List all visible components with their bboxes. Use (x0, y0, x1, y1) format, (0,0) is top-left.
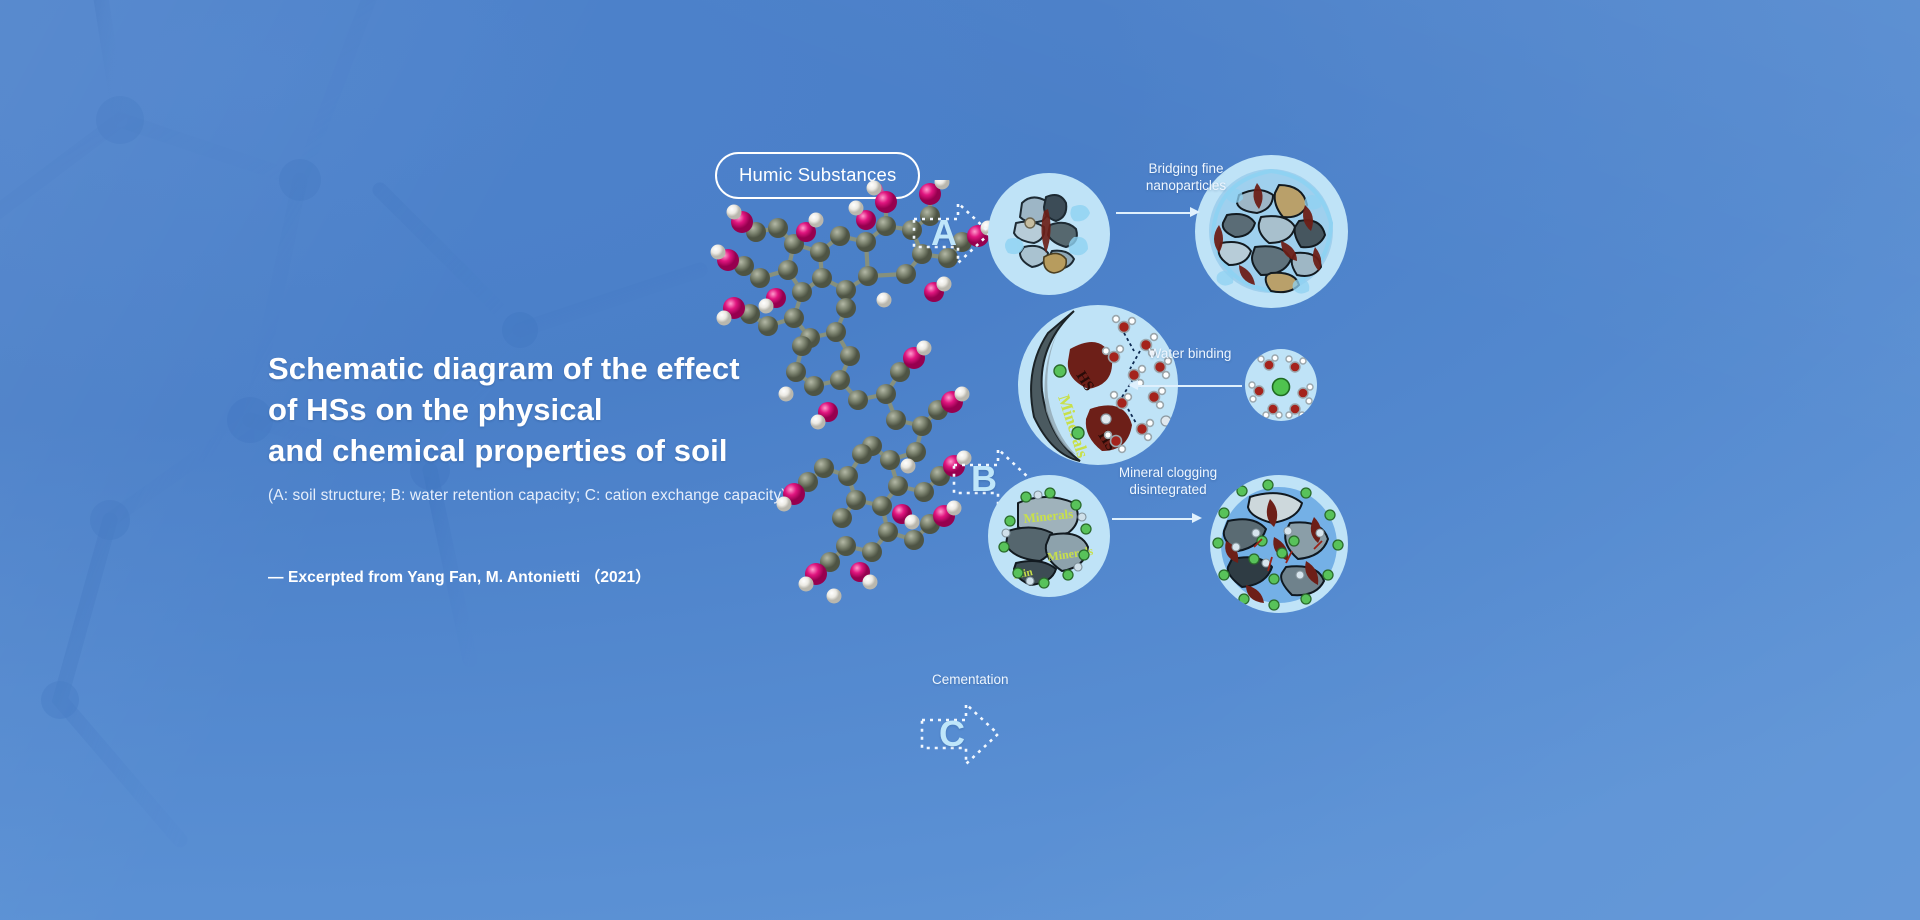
flow-arrowhead-mineral-clogging (1192, 513, 1202, 523)
circle-cemented-mineral-clog: Minerals Minerals Min (988, 475, 1110, 597)
flow-label-water-binding: Water binding (1130, 345, 1250, 362)
circle-hydrated-cation (1245, 349, 1317, 421)
flow-arrowhead-bridging (1190, 207, 1200, 217)
flow-label-mineral-clogging: Mineral clogging disintegrated (1108, 464, 1228, 499)
flow-line-mineral-clogging (1112, 518, 1194, 520)
circle-loose-soil-particles (988, 173, 1110, 295)
flow-arrowhead-water-binding (1128, 380, 1138, 390)
circle-disintegrated-minerals (1210, 475, 1348, 613)
flow-line-bridging (1116, 212, 1192, 214)
step-arrow-c (918, 698, 1002, 770)
step-arrow-a (910, 197, 994, 269)
flow-label-bridging: Bridging fine nanoparticles (1116, 160, 1256, 195)
label-cementation: Cementation (932, 672, 1009, 687)
diagram-container: Humic Substances (840, 120, 1920, 820)
flow-line-water-binding (1138, 385, 1242, 387)
